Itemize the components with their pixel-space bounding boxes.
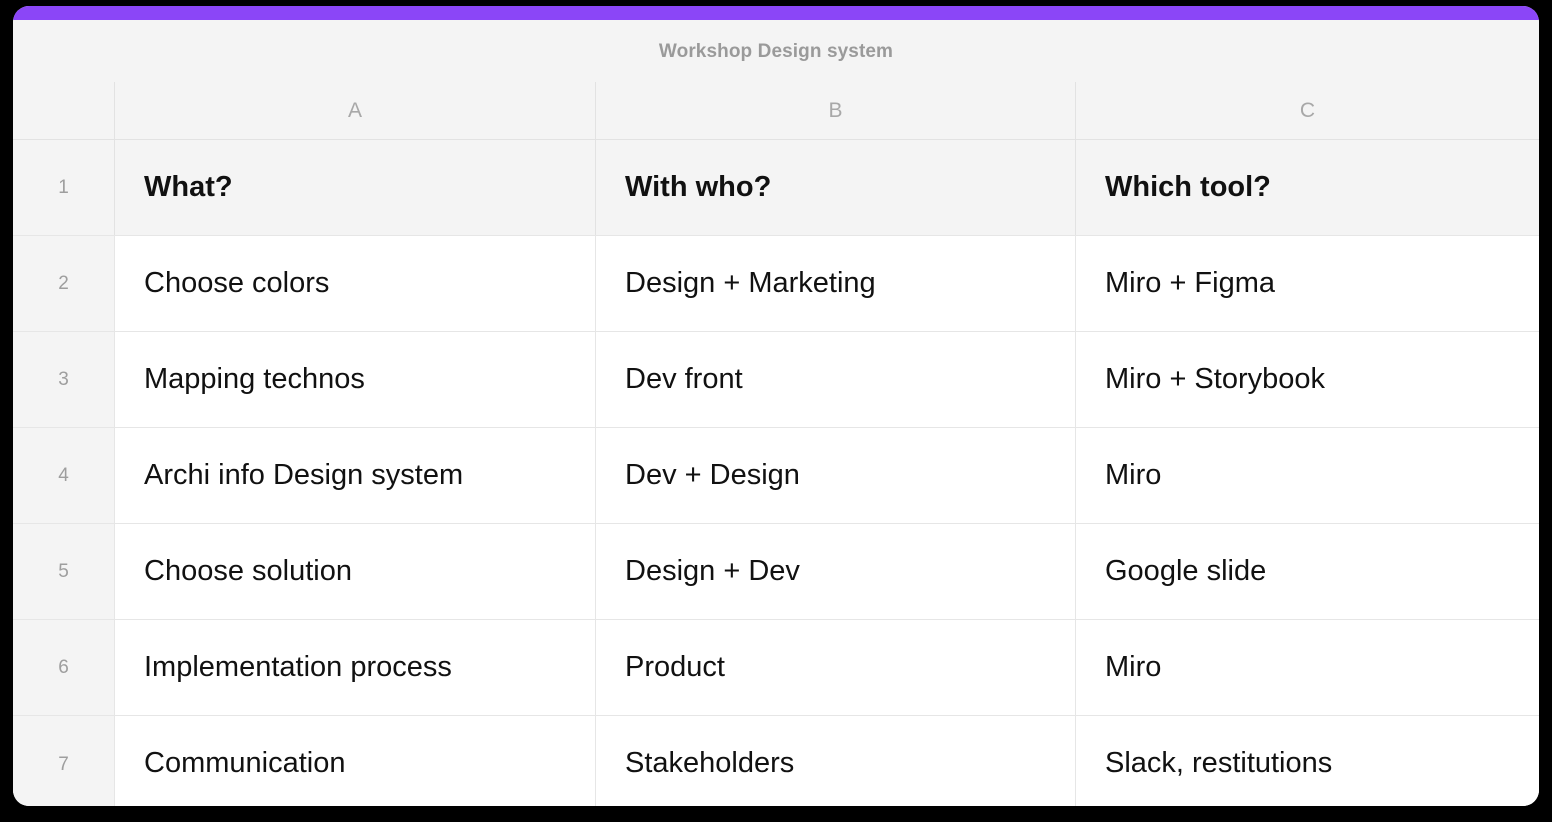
table-row: 3 Mapping technos Dev front Miro + Story… (13, 332, 1539, 428)
row-number-4[interactable]: 4 (13, 428, 114, 523)
cell-c4[interactable]: Miro (1075, 428, 1539, 523)
table-row: 7 Communication Stakeholders Slack, rest… (13, 716, 1539, 806)
cell-c2[interactable]: Miro + Figma (1075, 236, 1539, 331)
table-row: 5 Choose solution Design + Dev Google sl… (13, 524, 1539, 620)
row-number-5[interactable]: 5 (13, 524, 114, 619)
cell-b6[interactable]: Product (595, 620, 1075, 715)
column-header-row: A B C (13, 82, 1539, 140)
table-row: 1 What? With who? Which tool? (13, 140, 1539, 236)
cell-b4[interactable]: Dev + Design (595, 428, 1075, 523)
spreadsheet-grid: A B C 1 What? With who? Which tool? 2 Ch… (13, 82, 1539, 806)
table-row: 4 Archi info Design system Dev + Design … (13, 428, 1539, 524)
document-title-bar: Workshop Design system (13, 20, 1539, 82)
table-row: 6 Implementation process Product Miro (13, 620, 1539, 716)
cell-a6[interactable]: Implementation process (114, 620, 595, 715)
column-header-b[interactable]: B (595, 82, 1075, 139)
cell-a2[interactable]: Choose colors (114, 236, 595, 331)
cell-c7[interactable]: Slack, restitutions (1075, 716, 1539, 806)
row-number-7[interactable]: 7 (13, 716, 114, 806)
accent-bar (13, 6, 1539, 20)
row-number-1[interactable]: 1 (13, 140, 114, 235)
cell-a7[interactable]: Communication (114, 716, 595, 806)
row-number-3[interactable]: 3 (13, 332, 114, 427)
cell-b7[interactable]: Stakeholders (595, 716, 1075, 806)
column-header-c[interactable]: C (1075, 82, 1539, 139)
cell-a5[interactable]: Choose solution (114, 524, 595, 619)
page-title: Workshop Design system (659, 42, 893, 61)
cell-b3[interactable]: Dev front (595, 332, 1075, 427)
cell-a1[interactable]: What? (114, 140, 595, 235)
grid-corner-cell[interactable] (13, 82, 114, 139)
cell-a4[interactable]: Archi info Design system (114, 428, 595, 523)
cell-b2[interactable]: Design + Marketing (595, 236, 1075, 331)
table-row: 2 Choose colors Design + Marketing Miro … (13, 236, 1539, 332)
row-number-6[interactable]: 6 (13, 620, 114, 715)
cell-b5[interactable]: Design + Dev (595, 524, 1075, 619)
row-number-2[interactable]: 2 (13, 236, 114, 331)
app-root: Workshop Design system A B C 1 What? Wit… (0, 0, 1552, 822)
cell-c5[interactable]: Google slide (1075, 524, 1539, 619)
cell-c1[interactable]: Which tool? (1075, 140, 1539, 235)
cell-c6[interactable]: Miro (1075, 620, 1539, 715)
cell-c3[interactable]: Miro + Storybook (1075, 332, 1539, 427)
column-header-a[interactable]: A (114, 82, 595, 139)
cell-b1[interactable]: With who? (595, 140, 1075, 235)
spreadsheet-card: Workshop Design system A B C 1 What? Wit… (13, 6, 1539, 806)
cell-a3[interactable]: Mapping technos (114, 332, 595, 427)
